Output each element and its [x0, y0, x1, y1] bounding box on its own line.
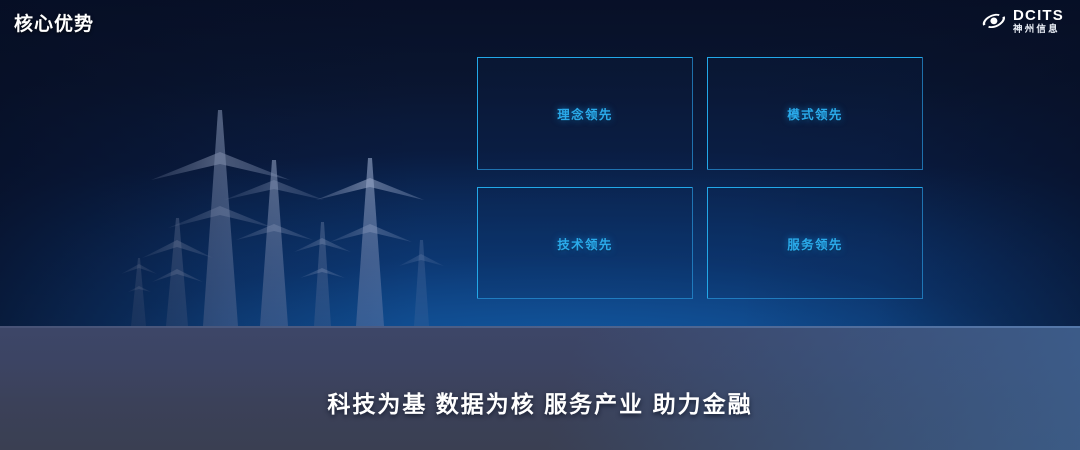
brand-logo: DCITS 神州信息	[981, 8, 1064, 35]
card-label: 技术领先	[557, 234, 613, 253]
advantage-card-service[interactable]: 服务领先	[707, 187, 923, 299]
card-label: 服务领先	[787, 234, 843, 253]
tower-center-right	[224, 160, 324, 326]
dcits-swirl-logo-icon	[981, 9, 1007, 33]
slide-canvas: 核心优势 DCITS 神州信息 理念领先 模式领先 技术领先 服务领先 科技为基	[0, 0, 1080, 450]
tower-right-tall	[316, 158, 424, 326]
card-label: 理念领先	[557, 104, 613, 123]
logo-wordmark: DCITS 神州信息	[1013, 8, 1064, 35]
advantage-card-grid: 理念领先 模式领先 技术领先 服务领先	[477, 57, 923, 299]
advantage-card-technology[interactable]: 技术领先	[477, 187, 693, 299]
page-title: 核心优势	[14, 9, 94, 36]
tower-far-right	[399, 240, 444, 326]
card-label: 模式领先	[787, 104, 843, 123]
logo-english-text: DCITS	[1013, 8, 1064, 23]
logo-chinese-text: 神州信息	[1013, 25, 1064, 35]
advantage-card-concept[interactable]: 理念领先	[477, 57, 693, 170]
horizon-line	[0, 326, 1080, 328]
footer-tagline: 科技为基 数据为核 服务产业 助力金融	[0, 385, 1080, 419]
tower-far-left	[121, 258, 157, 326]
advantage-card-model[interactable]: 模式领先	[707, 57, 923, 170]
